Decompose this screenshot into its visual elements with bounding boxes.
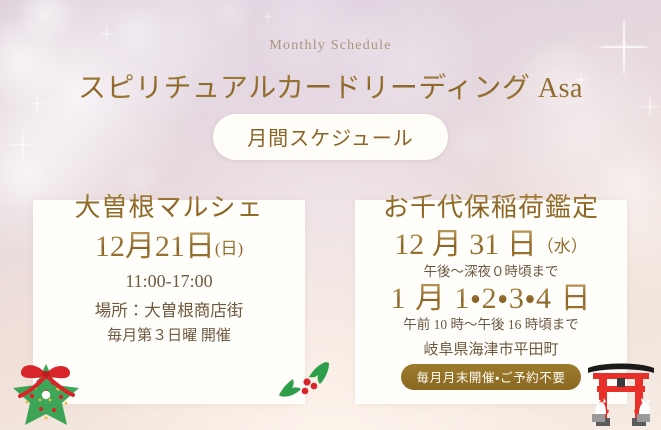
card-right-date-1-text: 12 月 31 日 — [394, 228, 537, 261]
card-left-date-text: 12月21日 — [95, 230, 215, 263]
subtitle-pill: 月間スケジュール — [213, 114, 448, 160]
eyebrow-label: Monthly Schedule — [0, 38, 661, 54]
poster-canvas: Monthly Schedule スピリチュアルカードリーディング Asa 月間… — [0, 0, 661, 430]
card-left-note: 毎月第３日曜 開催 — [33, 325, 305, 348]
sparkle-icon — [262, 10, 274, 24]
card-right-time-2: 午前 10 時～午後 16 時頃まで — [355, 316, 627, 334]
card-right-badge-wrap: 毎月月末開催・ご予約不要 — [355, 364, 627, 390]
event-card-right: お千代保稲荷鑑定 12 月 31 日（水） 午後～深夜０時頃まで 1 月 1・2… — [355, 200, 627, 404]
page-title: スピリチュアルカードリーディング Asa — [0, 66, 661, 106]
status-badge: 毎月月末開催・ご予約不要 — [401, 364, 582, 390]
card-right-title: お千代保稲荷鑑定 — [355, 187, 627, 224]
card-right-date-2: 1 月 1・2・3・4 日 — [355, 282, 627, 316]
bokeh-blob — [210, 0, 254, 34]
bokeh-blob — [18, 0, 74, 42]
card-right-date-1: 12 月 31 日（水） — [355, 228, 627, 262]
card-left-title: 大曽根マルシェ — [33, 187, 305, 224]
card-left-date: 12月21日(日) — [33, 230, 305, 264]
event-card-left: 大曽根マルシェ 12月21日(日) 11:00-17:00 場所：大曽根商店街 … — [33, 200, 305, 404]
card-right-time-1: 午後～深夜０時頃まで — [355, 263, 627, 281]
subtitle-pill-wrap: 月間スケジュール — [0, 114, 661, 160]
card-left-venue: 場所：大曽根商店街 — [33, 299, 305, 324]
card-left-time: 11:00-17:00 — [33, 268, 305, 294]
card-left-day-of-week: (日) — [215, 239, 243, 258]
card-right-address: 岐阜県海津市平田町 — [355, 338, 627, 359]
card-right-day-of-week: （水） — [537, 237, 588, 256]
